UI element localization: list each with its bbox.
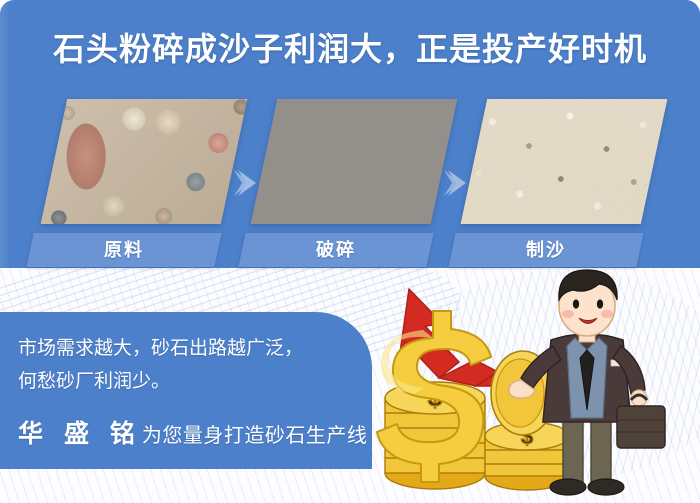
process-label-text: 破碎	[242, 233, 430, 267]
crushed-gravel-photo	[251, 99, 458, 224]
process-label-text: 制沙	[452, 233, 640, 267]
process-image-crushing	[251, 99, 458, 224]
process-label-crushing: 破碎	[238, 233, 433, 267]
process-label-text: 原料	[30, 233, 218, 267]
promo-banner: 石头粉碎成沙子利润大，正是投产好时机 原料 破碎 制沙	[0, 0, 700, 503]
chevron-right-icon	[442, 168, 468, 198]
manufactured-sand-photo	[461, 99, 668, 224]
message-line-1: 市场需求越大，砂石出路越广泛，	[18, 332, 348, 365]
brand-name: 华 盛 铭	[18, 420, 142, 448]
message-body: 市场需求越大，砂石出路越广泛， 何愁砂厂利润少。	[18, 332, 348, 398]
illustration-group: $ $	[355, 268, 700, 503]
brand-tagline: 为您量身打造砂石生产线	[142, 425, 368, 447]
brand-slogan: 华 盛 铭为您量身打造砂石生产线	[18, 414, 367, 450]
process-label-raw-material: 原料	[26, 233, 221, 267]
chevron-right-icon	[232, 168, 258, 198]
page-title: 石头粉碎成沙子利润大，正是投产好时机	[0, 24, 700, 70]
pebbles-photo	[41, 99, 248, 224]
process-label-sand-making: 制沙	[448, 233, 643, 267]
process-image-raw-material	[41, 99, 248, 224]
process-image-sand-making	[461, 99, 668, 224]
message-line-2: 何愁砂厂利润少。	[18, 365, 348, 398]
